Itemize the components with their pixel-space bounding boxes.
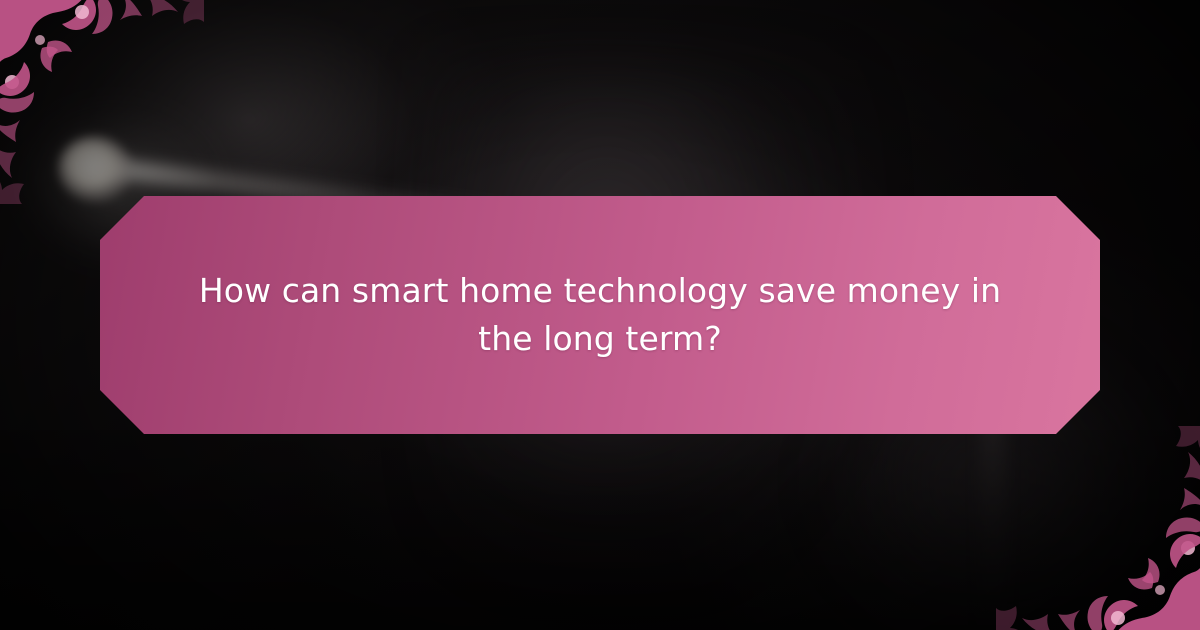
poster-canvas: How can smart home technology save money… bbox=[0, 0, 1200, 630]
question-title: How can smart home technology save money… bbox=[100, 267, 1100, 363]
question-banner: How can smart home technology save money… bbox=[100, 196, 1100, 434]
